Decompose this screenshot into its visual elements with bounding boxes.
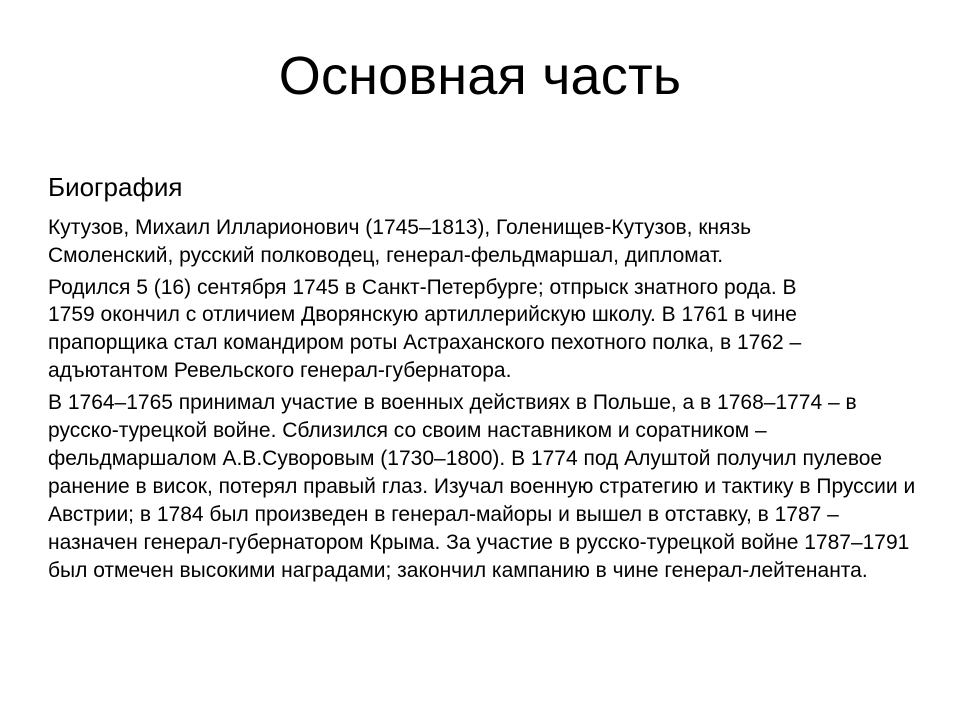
slide-body-content: Биография Кутузов, Михаил Илларионович (… [48, 172, 928, 585]
body-paragraph-intro: Кутузов, Михаил Илларионович (1745–1813)… [48, 214, 848, 270]
section-heading-biography: Биография [48, 172, 928, 204]
presentation-slide: Основная часть Биография Кутузов, Михаил… [0, 0, 960, 720]
body-paragraph-early-life: Родился 5 (16) сентября 1745 в Санкт-Пет… [48, 274, 848, 386]
slide-title: Основная часть [48, 46, 912, 106]
body-paragraph-military-career: В 1764–1765 принимал участие в военных д… [48, 389, 932, 584]
